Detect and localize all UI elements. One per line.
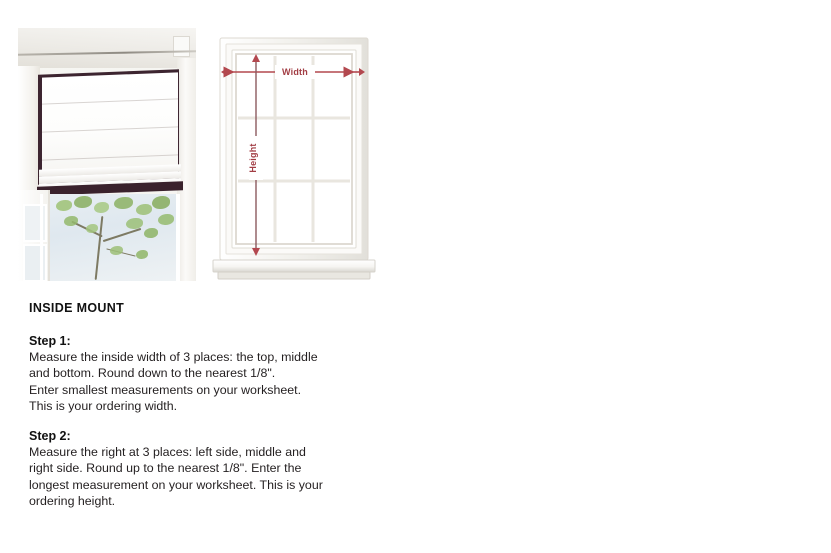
inside-mount-column: Width Height INSIDE MOUNT Step 1: Measur… xyxy=(0,0,416,553)
inside-mount-heading: INSIDE MOUNT xyxy=(29,301,399,315)
inside-step-2-title: Step 2: xyxy=(29,429,399,443)
inside-step-1-title: Step 1: xyxy=(29,334,399,348)
inside-step-2-body: Measure the right at 3 places: left side… xyxy=(29,444,399,509)
width-label: Width xyxy=(282,67,308,77)
inside-step-1: Step 1: Measure the inside width of 3 pl… xyxy=(29,334,399,414)
inside-mount-text-block: INSIDE MOUNT Step 1: Measure the inside … xyxy=(29,301,399,509)
soffit-cap xyxy=(173,36,190,57)
inside-mount-photo xyxy=(18,28,196,281)
measuring-guide-page: Width Height INSIDE MOUNT Step 1: Measur… xyxy=(0,0,831,553)
ceiling-soffit xyxy=(18,28,196,68)
window-glass xyxy=(40,194,180,281)
open-casement-sash xyxy=(18,190,50,281)
outside-mount-column: Width Height xyxy=(416,0,831,553)
roman-shade-body xyxy=(42,72,178,178)
inside-step-1-body: Measure the inside width of 3 places: th… xyxy=(29,349,399,414)
inside-step-2: Step 2: Measure the right at 3 places: l… xyxy=(29,429,399,509)
height-label: Height xyxy=(248,143,258,172)
inside-mount-diagram: Width Height xyxy=(205,26,383,284)
